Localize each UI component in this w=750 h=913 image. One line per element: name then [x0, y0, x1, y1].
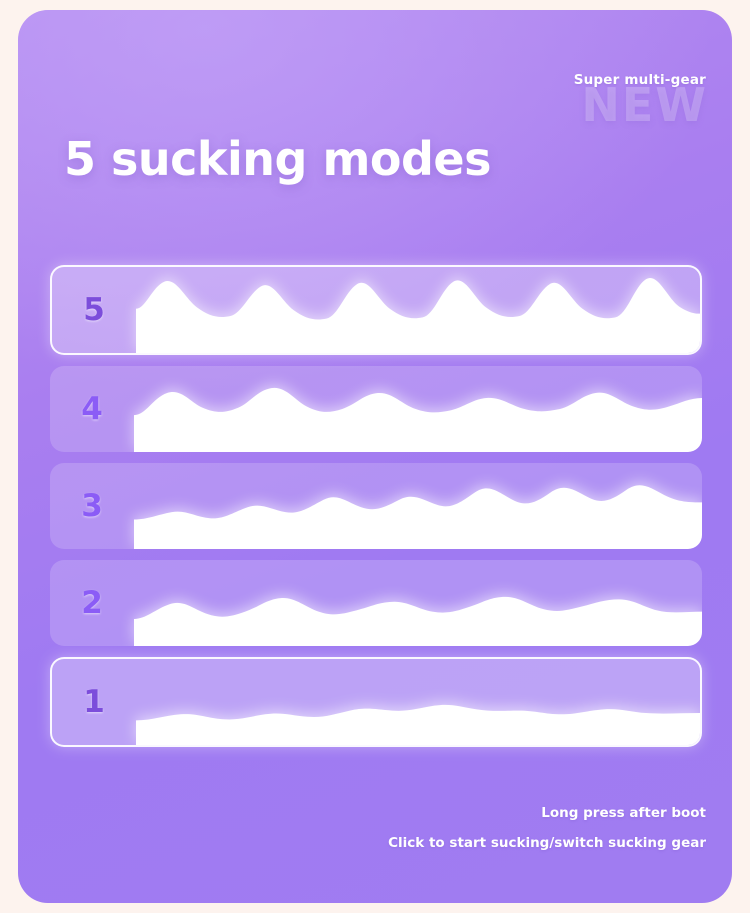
- mode-label-1: 1: [52, 684, 136, 720]
- mode-row-4[interactable]: 4: [50, 366, 702, 452]
- waveform-3-icon: [134, 463, 702, 549]
- mode-row-3[interactable]: 3: [50, 463, 702, 549]
- mode-label-5: 5: [52, 292, 136, 328]
- footer-line-1: Long press after boot: [46, 805, 706, 821]
- mode-label-2: 2: [50, 585, 134, 621]
- waveform-3: [134, 463, 702, 549]
- waveform-5: [136, 267, 700, 353]
- mode-row-1[interactable]: 1: [50, 657, 702, 747]
- waveform-5-icon: [136, 267, 700, 353]
- page-title: 5 sucking modes: [64, 132, 491, 186]
- product-feature-card: NEW Super multi-gear 5 sucking modes 5 4…: [18, 10, 732, 903]
- footer-line-2: Click to start sucking/switch sucking ge…: [46, 835, 706, 851]
- mode-label-3: 3: [50, 488, 134, 524]
- waveform-2-icon: [134, 560, 702, 646]
- new-badge-text: NEW: [581, 82, 708, 128]
- waveform-1-icon: [136, 659, 700, 745]
- waveform-1: [136, 659, 700, 745]
- waveform-4: [134, 366, 702, 452]
- tagline-text: Super multi-gear: [574, 72, 706, 88]
- mode-row-2[interactable]: 2: [50, 560, 702, 646]
- waveform-4-icon: [134, 366, 702, 452]
- waveform-2: [134, 560, 702, 646]
- mode-label-4: 4: [50, 391, 134, 427]
- mode-row-5[interactable]: 5: [50, 265, 702, 355]
- mode-list: 5 4 3 2: [50, 265, 702, 758]
